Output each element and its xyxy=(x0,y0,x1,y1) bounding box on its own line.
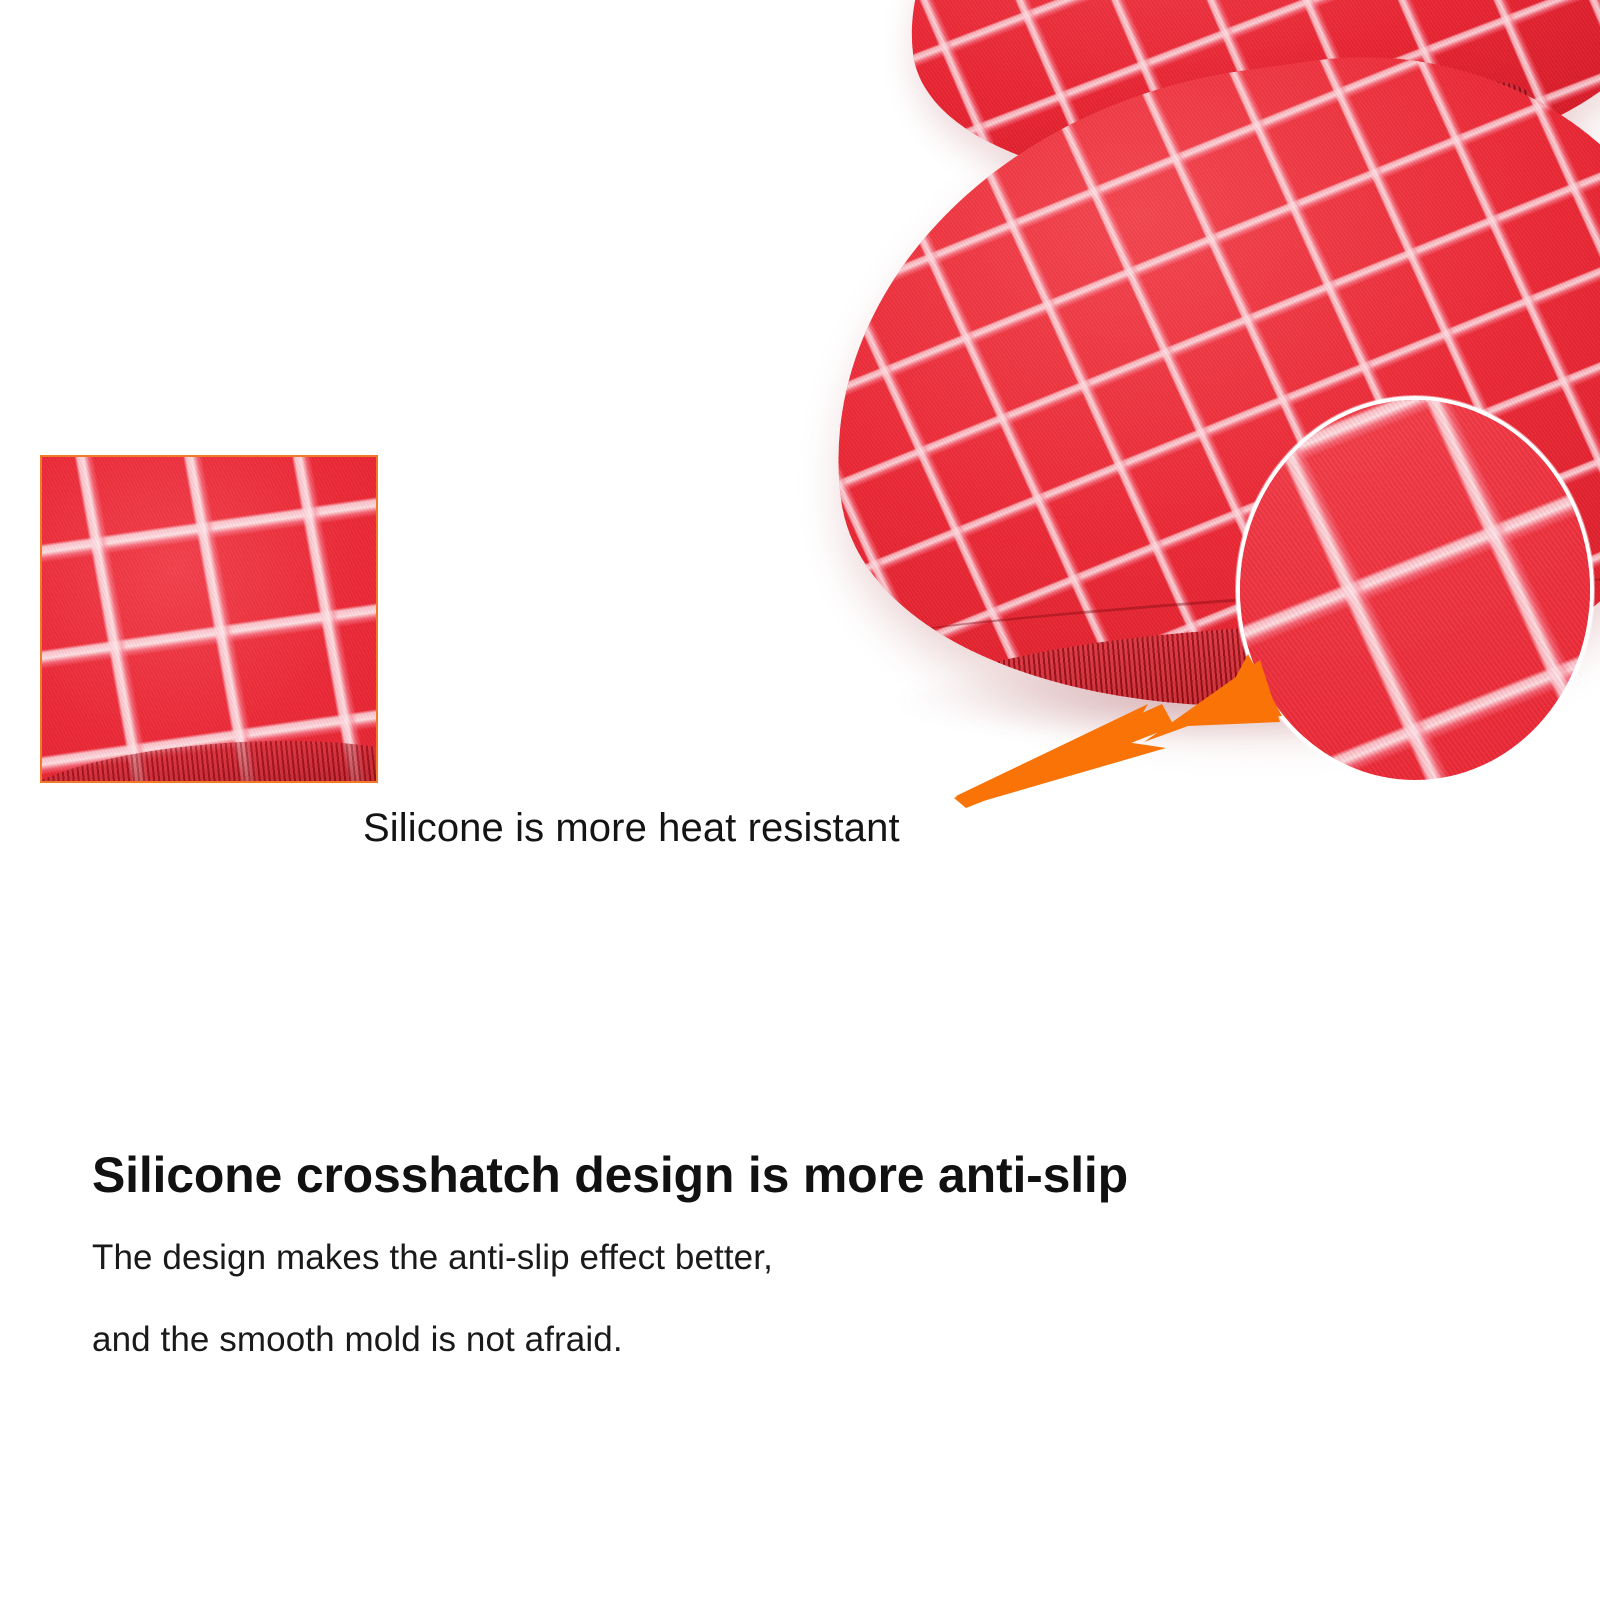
feature-headline: Silicone crosshatch design is more anti-… xyxy=(92,1146,1128,1204)
pointer-arrow xyxy=(930,630,1350,820)
twill-weave-texture xyxy=(42,457,376,781)
product-photo xyxy=(0,0,1600,900)
fabric-detail-swatch xyxy=(40,455,378,783)
feature-body-line-1: The design makes the anti-slip effect be… xyxy=(92,1238,773,1278)
page-root: Silicone is more heat resistant Silicone… xyxy=(0,0,1600,1600)
feature-body-line-2: and the smooth mold is not afraid. xyxy=(92,1320,623,1360)
callout-caption: Silicone is more heat resistant xyxy=(363,806,900,851)
